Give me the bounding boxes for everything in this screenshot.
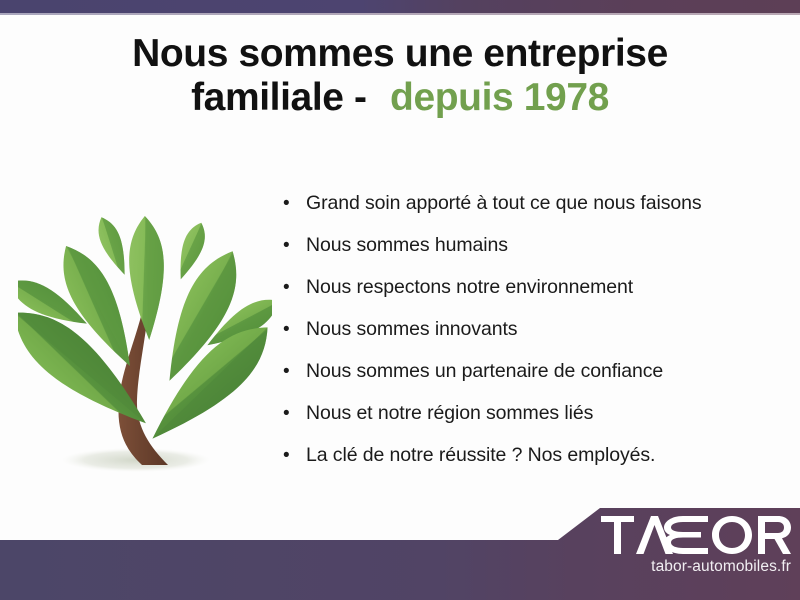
bullet-marker-icon: • <box>283 278 306 297</box>
logo-letter-b-reversed <box>664 516 708 554</box>
bullet-marker-icon: • <box>283 362 306 381</box>
bullet-marker-icon: • <box>283 236 306 255</box>
title-line-2-accent: depuis 1978 <box>390 76 609 119</box>
bullet-text: La clé de notre réussite ? Nos employés. <box>306 444 655 467</box>
title-line-2-plain: familiale - <box>191 76 377 119</box>
list-item: • Nous sommes humains <box>283 234 783 276</box>
top-accent-hairline <box>0 13 800 15</box>
bullet-marker-icon: • <box>283 320 306 339</box>
list-item: • Nous respectons notre environnement <box>283 276 783 318</box>
list-item: • Grand soin apporté à tout ce que nous … <box>283 192 783 234</box>
bullet-marker-icon: • <box>283 446 306 465</box>
logo-url-text: tabor-automobiles.fr <box>0 558 791 576</box>
bullet-text: Nous respectons notre environnement <box>306 276 633 299</box>
logo-letter-t <box>601 516 634 554</box>
logo-letter-o <box>712 516 752 554</box>
top-accent-bar <box>0 0 800 13</box>
slide-canvas: Nous sommes une entreprise familiale - d… <box>0 0 800 600</box>
leaf-top-center <box>128 215 167 340</box>
list-item: • Nous et notre région sommes liés <box>283 402 783 444</box>
list-item: • Nous sommes innovants <box>283 318 783 360</box>
tree-illustration <box>18 188 272 493</box>
page-title: Nous sommes une entreprise familiale - d… <box>0 32 800 121</box>
bullet-text: Nous et notre région sommes liés <box>306 402 593 425</box>
title-line-2: familiale - depuis 1978 <box>0 76 800 120</box>
logo-letter-r <box>758 516 791 554</box>
bullet-list: • Grand soin apporté à tout ce que nous … <box>283 192 783 486</box>
list-item: • Nous sommes un partenaire de confiance <box>283 360 783 402</box>
bullet-text: Nous sommes un partenaire de confiance <box>306 360 663 383</box>
tabor-logo <box>601 516 791 554</box>
list-item: • La clé de notre réussite ? Nos employé… <box>283 444 783 486</box>
bullet-text: Nous sommes humains <box>306 234 508 257</box>
bullet-text: Grand soin apporté à tout ce que nous fa… <box>306 192 702 215</box>
bullet-marker-icon: • <box>283 194 306 213</box>
bullet-marker-icon: • <box>283 404 306 423</box>
bullet-text: Nous sommes innovants <box>306 318 517 341</box>
title-line-1: Nous sommes une entreprise <box>0 32 800 76</box>
